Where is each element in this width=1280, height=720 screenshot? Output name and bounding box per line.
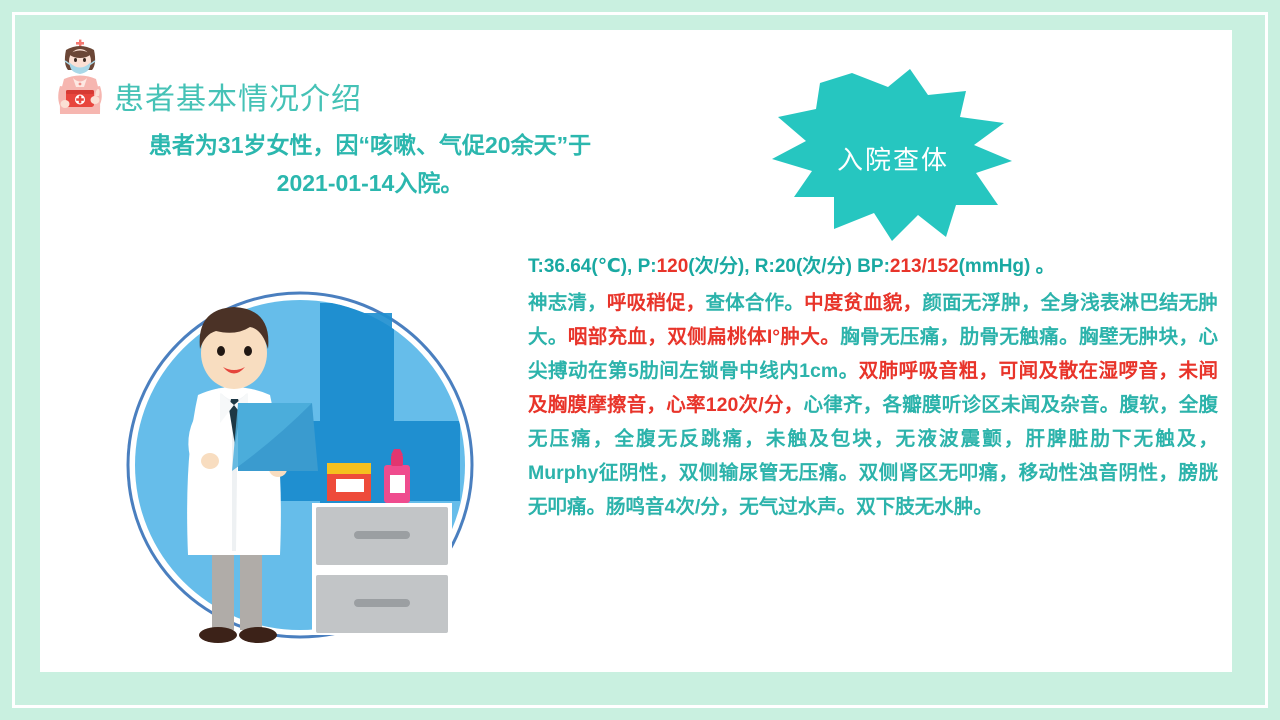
- admission-exam-badge-label: 入院查体: [760, 65, 1020, 245]
- patient-intro-line-2: 2021-01-14入院。: [70, 164, 670, 202]
- vital-value-normal: T:36.64(℃), P:: [528, 256, 657, 277]
- finding-abnormal: 中度贫血貌，: [804, 292, 922, 314]
- patient-intro-text: 患者为31岁女性，因“咳嗽、气促20余天”于 2021-01-14入院。: [70, 126, 670, 202]
- vital-value-normal: (mmHg) 。: [959, 256, 1055, 277]
- finding-normal: 查体合作。: [705, 292, 804, 314]
- finding-abnormal: 咽部充血，双侧扁桃体I°肿大。: [568, 326, 840, 348]
- vital-value-abnormal: 120: [657, 256, 689, 277]
- physical-findings-paragraph: 神志清，呼吸稍促，查体合作。中度贫血貌，颜面无浮肿，全身浅表淋巴结无肿大。咽部充…: [528, 286, 1218, 524]
- doctor-with-clipboard-illustration: [120, 275, 495, 665]
- page-title: 患者基本情况介绍: [114, 74, 362, 118]
- finding-abnormal: 呼吸稍促，: [607, 292, 706, 314]
- vital-value-normal: (次/分), R:20(次/分) BP:: [688, 256, 890, 277]
- slide-header: 患者基本情况介绍: [40, 30, 1232, 126]
- vital-signs-line: T:36.64(℃), P:120(次/分), R:20(次/分) BP:213…: [528, 248, 1218, 286]
- vital-value-abnormal: 213/152: [890, 256, 959, 277]
- nurse-illustration: [43, 34, 117, 118]
- content-card: 患者基本情况介绍 患者为31岁女性，因“咳嗽、气促20余天”于 2021-01-…: [40, 30, 1232, 672]
- admission-exam-text: T:36.64(℃), P:120(次/分), R:20(次/分) BP:213…: [528, 248, 1218, 524]
- finding-normal: 神志清，: [528, 292, 607, 314]
- patient-intro-line-1: 患者为31岁女性，因“咳嗽、气促20余天”于: [70, 126, 670, 164]
- admission-exam-badge: 入院查体: [760, 65, 1020, 245]
